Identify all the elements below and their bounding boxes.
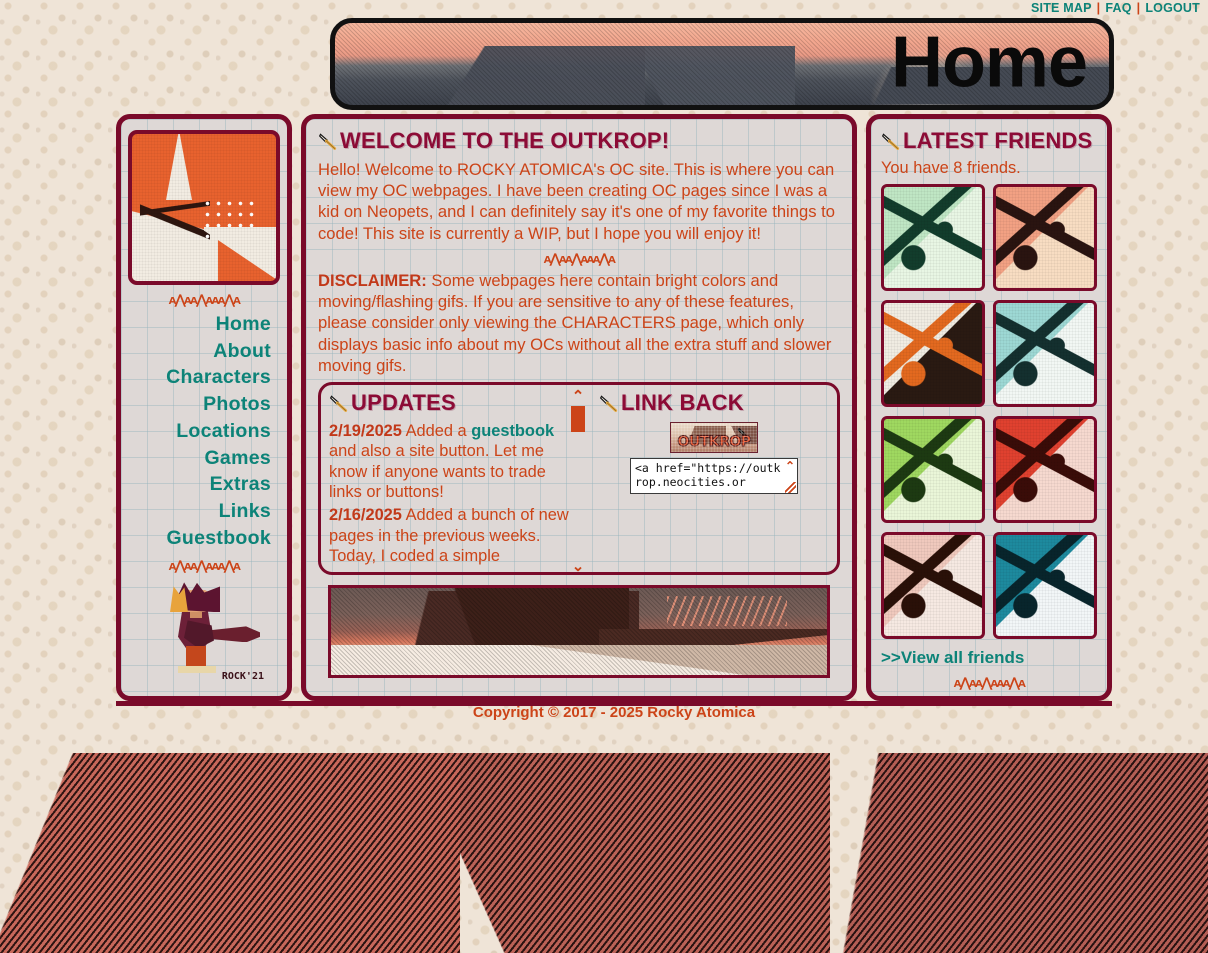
updates-heading: UPDATES	[351, 390, 456, 416]
pickaxe-icon	[318, 131, 338, 151]
logout-link[interactable]: LOGOUT	[1145, 1, 1200, 15]
sidebar-item-characters[interactable]: Characters	[166, 364, 271, 391]
top-utility-links: SITE MAP | FAQ | LOGOUT	[1031, 0, 1200, 16]
sidebar: ᴀ⋀ᴀᴀ⋀ᴀᴀᴀ⋀ᴀ Home About Characters Photos …	[116, 114, 292, 701]
pixel-shoes	[178, 666, 216, 673]
friends-panel: LATEST FRIENDS You have 8 friends. >>Vie…	[866, 114, 1112, 701]
welcome-heading: WELCOME TO THE OUTKROP!	[340, 128, 669, 154]
sidebar-item-about[interactable]: About	[213, 338, 271, 365]
page-title: Home	[891, 30, 1087, 95]
disclaimer-paragraph: DISCLAIMER: Some webpages here contain b…	[318, 270, 840, 376]
pickaxe-icon	[881, 131, 901, 151]
avatar-texture	[884, 303, 982, 404]
avatar-texture	[996, 419, 1094, 520]
update-text-1a: Added a	[402, 422, 471, 440]
avatar-texture	[996, 535, 1094, 636]
avatar-texture	[884, 419, 982, 520]
friends-grid	[881, 184, 1097, 639]
friend-avatar-2[interactable]	[993, 184, 1097, 291]
avatar-texture	[884, 535, 982, 636]
mountain-divider-top: ᴀ⋀ᴀᴀ⋀ᴀᴀᴀ⋀ᴀ	[127, 293, 281, 306]
friends-count: You have 8 friends.	[881, 159, 1097, 178]
sidebar-nav: Home About Characters Photos Locations G…	[127, 311, 281, 551]
guestbook-link[interactable]: guestbook	[471, 422, 554, 440]
avatar-texture	[996, 303, 1094, 404]
mountain-divider-bottom: ᴀ⋀ᴀᴀ⋀ᴀᴀᴀ⋀ᴀ	[127, 559, 281, 572]
site-map-link[interactable]: SITE MAP	[1031, 1, 1092, 15]
friend-avatar-5[interactable]	[881, 416, 985, 523]
friends-heading-row: LATEST FRIENDS	[881, 128, 1097, 154]
site-button-badge[interactable]: OUTKROP	[670, 422, 758, 453]
update-date-2: 2/16/2025	[329, 506, 402, 524]
friend-avatar-4[interactable]	[993, 300, 1097, 407]
sidebar-portrait-image	[128, 130, 280, 285]
sidebar-item-links[interactable]: Links	[219, 498, 271, 525]
update-date-1: 2/19/2025	[329, 422, 402, 440]
view-all-friends-link[interactable]: >>View all friends	[881, 648, 1097, 668]
update-text-1b: and also a site button. Let me know if a…	[329, 442, 546, 501]
friends-heading: LATEST FRIENDS	[903, 128, 1092, 154]
sidebar-item-photos[interactable]: Photos	[203, 391, 271, 418]
site-button-dither	[671, 423, 757, 452]
bottom-mountain-dither	[0, 753, 1208, 953]
sidebar-item-guestbook[interactable]: Guestbook	[166, 525, 271, 552]
portrait-texture	[132, 134, 276, 281]
pickaxe-icon	[329, 393, 349, 413]
updates-panel: UPDATES 2/19/2025 Added a guestbook and …	[321, 385, 579, 572]
bottom-mountain-decoration	[0, 753, 1208, 953]
faq-link[interactable]: FAQ	[1105, 1, 1131, 15]
updates-heading-row: UPDATES	[329, 390, 573, 416]
friend-avatar-6[interactable]	[993, 416, 1097, 523]
pixel-guitarist-art: ROCK'21	[148, 580, 260, 680]
friend-avatar-1[interactable]	[881, 184, 985, 291]
link-separator-2: |	[1137, 1, 1141, 15]
mountain-divider-friends: ᴀ⋀ᴀᴀ⋀ᴀᴀᴀ⋀ᴀ	[881, 676, 1097, 689]
copyright-text: Copyright © 2017 - 2025 Rocky Atomica	[116, 704, 1112, 721]
pickaxe-icon	[599, 393, 619, 413]
linkback-heading: LINK BACK	[621, 390, 744, 416]
linkback-heading-row: LINK BACK	[599, 390, 829, 416]
updates-scroll-area[interactable]: 2/19/2025 Added a guestbook and also a s…	[329, 421, 573, 575]
embed-code-textarea[interactable]: <a href="https://outkrop.neocities.or	[630, 458, 798, 494]
pixel-art-signature: ROCK'21	[222, 671, 264, 682]
sidebar-item-locations[interactable]: Locations	[176, 418, 271, 445]
friend-avatar-3[interactable]	[881, 300, 985, 407]
sidebar-item-home[interactable]: Home	[216, 311, 271, 338]
welcome-heading-row: WELCOME TO THE OUTKROP!	[318, 128, 840, 154]
welcome-paragraph: Hello! Welcome to ROCKY ATOMICA's OC sit…	[318, 159, 840, 244]
main-content: WELCOME TO THE OUTKROP! Hello! Welcome t…	[301, 114, 857, 701]
photo-dither-overlay	[331, 588, 827, 675]
desert-photo	[328, 585, 830, 678]
sidebar-item-extras[interactable]: Extras	[210, 471, 271, 498]
pixel-legs	[186, 646, 206, 668]
friend-avatar-8[interactable]	[993, 532, 1097, 639]
link-back-panel: LINK BACK OUTKROP <a href="https://outkr…	[579, 385, 837, 572]
update-entry-1: 2/19/2025 Added a guestbook and also a s…	[329, 421, 569, 502]
page-banner: Home	[330, 18, 1114, 110]
disclaimer-label: DISCLAIMER:	[318, 271, 427, 290]
update-entry-2: 2/16/2025 Added a bunch of new pages in …	[329, 505, 569, 566]
friend-avatar-7[interactable]	[881, 532, 985, 639]
mountain-divider-main: ᴀ⋀ᴀᴀ⋀ᴀᴀᴀ⋀ᴀ	[318, 252, 840, 265]
sidebar-item-games[interactable]: Games	[204, 445, 271, 472]
updates-linkback-row: UPDATES 2/19/2025 Added a guestbook and …	[318, 382, 840, 575]
avatar-texture	[884, 187, 982, 288]
avatar-texture	[996, 187, 1094, 288]
link-separator-1: |	[1097, 1, 1101, 15]
